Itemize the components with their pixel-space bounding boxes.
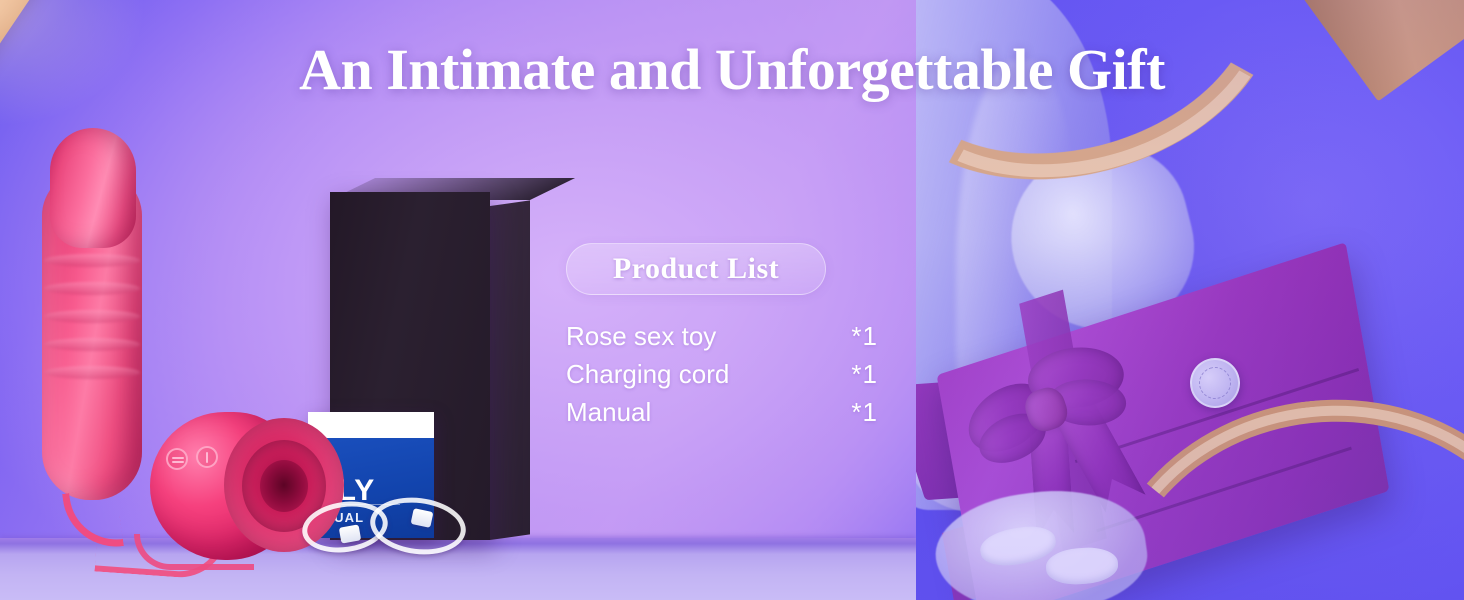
list-item-label: Charging cord xyxy=(566,355,729,393)
rose-power-button-icon xyxy=(166,448,188,470)
list-item-qty: *1 xyxy=(851,393,878,431)
list-item: Rose sex toy *1 xyxy=(566,317,878,355)
vibrator-ridge xyxy=(44,366,140,379)
product-list-block: Product List Rose sex toy *1 Charging co… xyxy=(566,243,886,431)
vibrator-ridge xyxy=(44,310,140,323)
usb-charging-cable xyxy=(300,496,480,558)
vibrator-ridge xyxy=(44,338,140,351)
list-item-label: Manual xyxy=(566,393,651,431)
black-box-side xyxy=(490,200,530,540)
list-item-qty: *1 xyxy=(851,355,878,393)
rose-mode-button-icon xyxy=(196,446,218,468)
pink-vibrator-product xyxy=(36,118,152,538)
list-item: Charging cord *1 xyxy=(566,355,878,393)
vibrator-ridge xyxy=(44,254,140,267)
product-list-badge: Product List xyxy=(566,243,826,295)
cable-plug-icon xyxy=(339,524,361,543)
rose-cord xyxy=(134,534,254,570)
product-list-heading: Product List xyxy=(613,252,779,286)
vibrator-head xyxy=(50,128,136,248)
product-list-items: Rose sex toy *1 Charging cord *1 Manual … xyxy=(566,317,878,431)
page-title: An Intimate and Unforgettable Gift xyxy=(0,36,1464,103)
list-item-qty: *1 xyxy=(851,317,878,355)
product-banner: OLLY R MANUAL Product List xyxy=(0,0,1464,600)
cable-loop xyxy=(367,492,469,559)
list-item: Manual *1 xyxy=(566,393,878,431)
vibrator-ridge xyxy=(44,282,140,295)
seal-inner-ring xyxy=(1195,363,1235,403)
list-item-label: Rose sex toy xyxy=(566,317,716,355)
